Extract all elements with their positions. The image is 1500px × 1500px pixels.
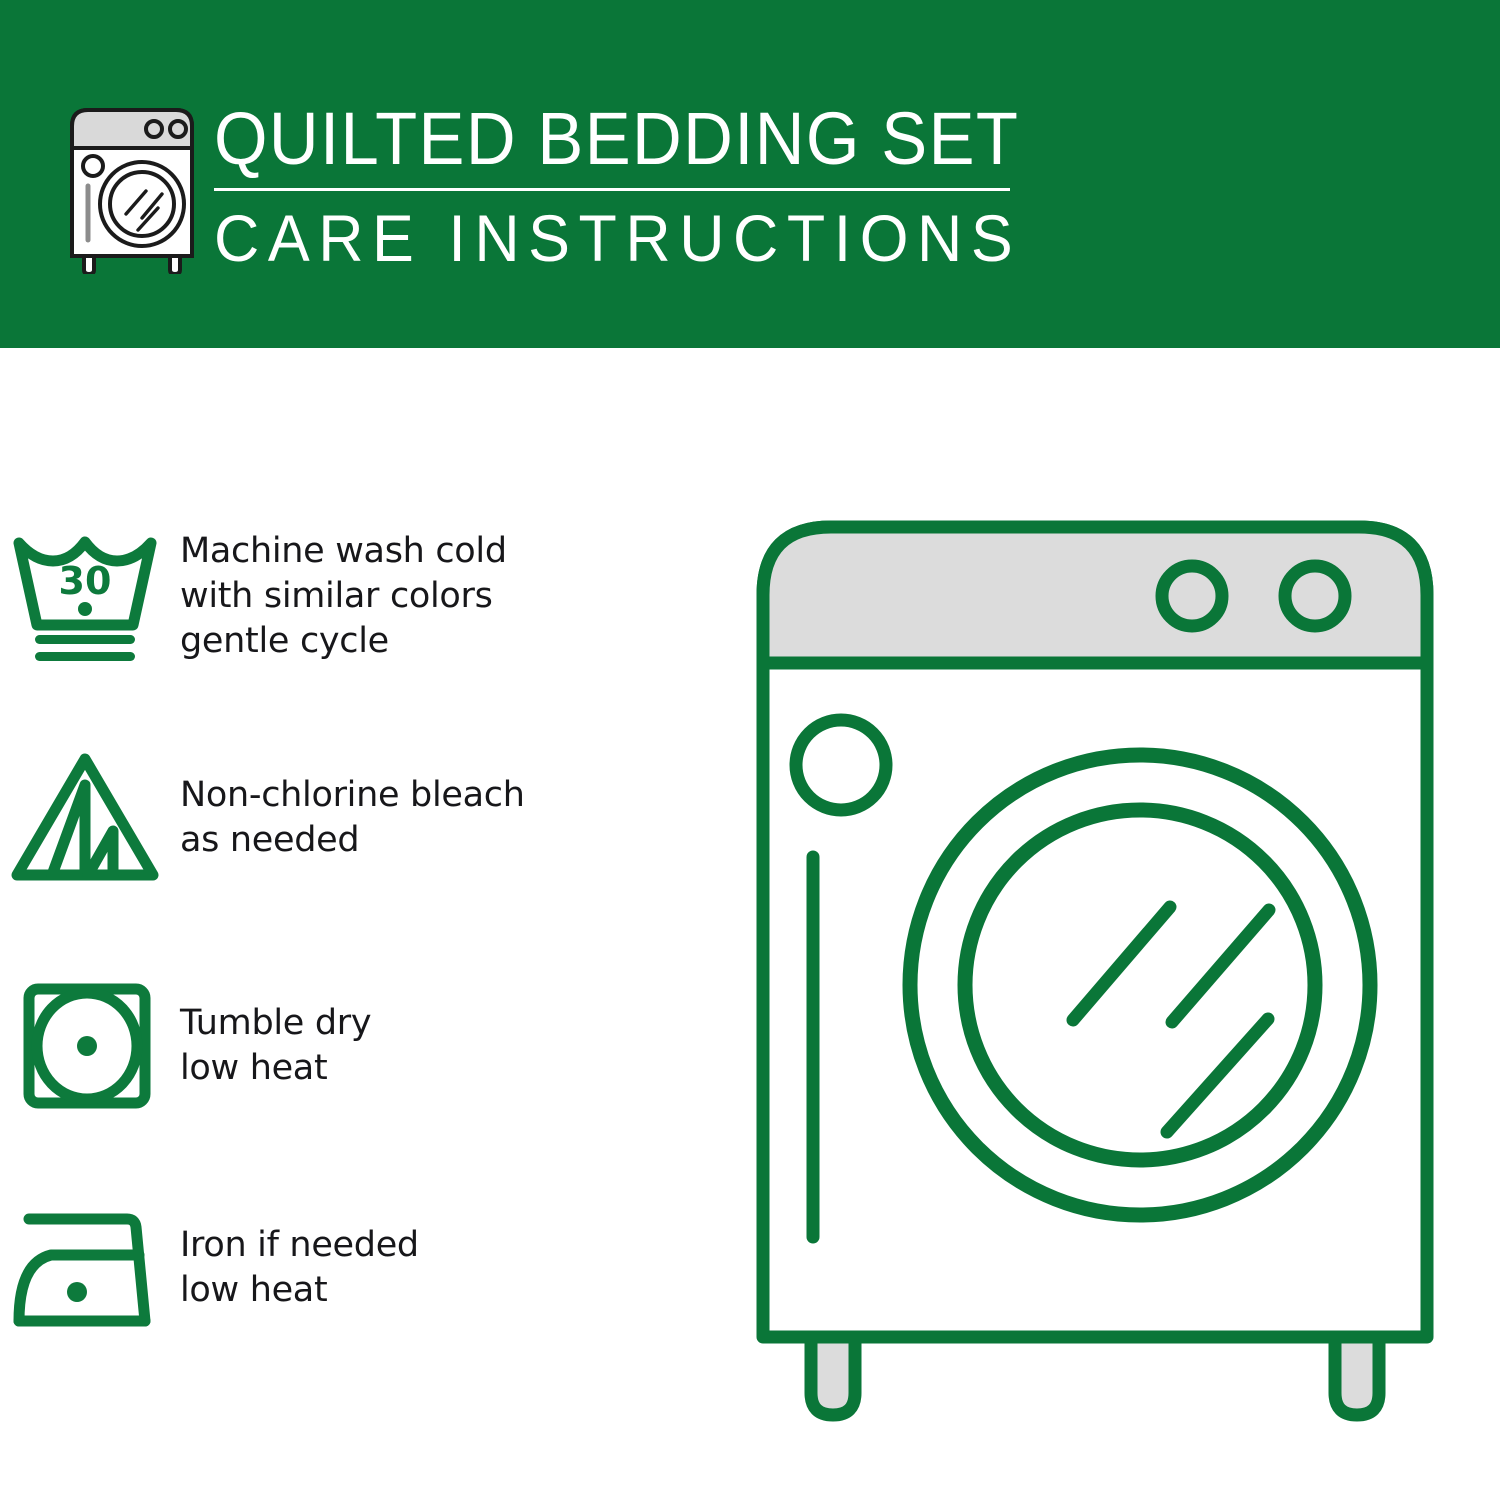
control-knob-left — [1162, 566, 1222, 626]
washer-leg-left — [811, 1337, 855, 1415]
care-label-tumble-dry: Tumble dry low heat — [180, 1001, 371, 1091]
iron-icon — [0, 1188, 180, 1348]
care-row-tumble-dry: Tumble dry low heat — [0, 966, 700, 1126]
header-text-block: QUILTED BEDDING SET CARE INSTRUCTIONS — [214, 96, 1024, 275]
page-subtitle: CARE INSTRUCTIONS — [214, 201, 984, 275]
drum-inner-ring — [965, 810, 1315, 1160]
care-row-iron: Iron if needed low heat — [0, 1188, 700, 1348]
care-instructions-infographic: QUILTED BEDDING SET CARE INSTRUCTIONS 30 — [0, 0, 1500, 1500]
care-label-machine-wash: Machine wash cold with similar colors ge… — [180, 529, 507, 664]
washer-leg-right — [1335, 1337, 1379, 1415]
washing-machine-icon — [62, 104, 202, 274]
wash-tub-30-icon: 30 — [0, 516, 180, 676]
care-row-machine-wash: 30 Machine wash cold with similar colors… — [0, 516, 700, 676]
care-label-bleach: Non-chlorine bleach as needed — [180, 773, 525, 863]
page-title: QUILTED BEDDING SET — [214, 96, 967, 182]
tumble-dry-icon — [0, 966, 180, 1126]
care-label-iron: Iron if needed low heat — [180, 1223, 419, 1313]
control-knob-right — [1285, 566, 1345, 626]
washing-machine-illustration — [735, 495, 1455, 1425]
title-divider — [214, 188, 1010, 191]
indicator-circle — [796, 720, 886, 810]
care-row-bleach: Non-chlorine bleach as needed — [0, 738, 700, 898]
bleach-triangle-icon — [0, 738, 180, 898]
header-band: QUILTED BEDDING SET CARE INSTRUCTIONS — [0, 0, 1500, 348]
wash-temperature-value: 30 — [59, 559, 112, 603]
care-instructions-list: 30 Machine wash cold with similar colors… — [0, 348, 720, 1500]
